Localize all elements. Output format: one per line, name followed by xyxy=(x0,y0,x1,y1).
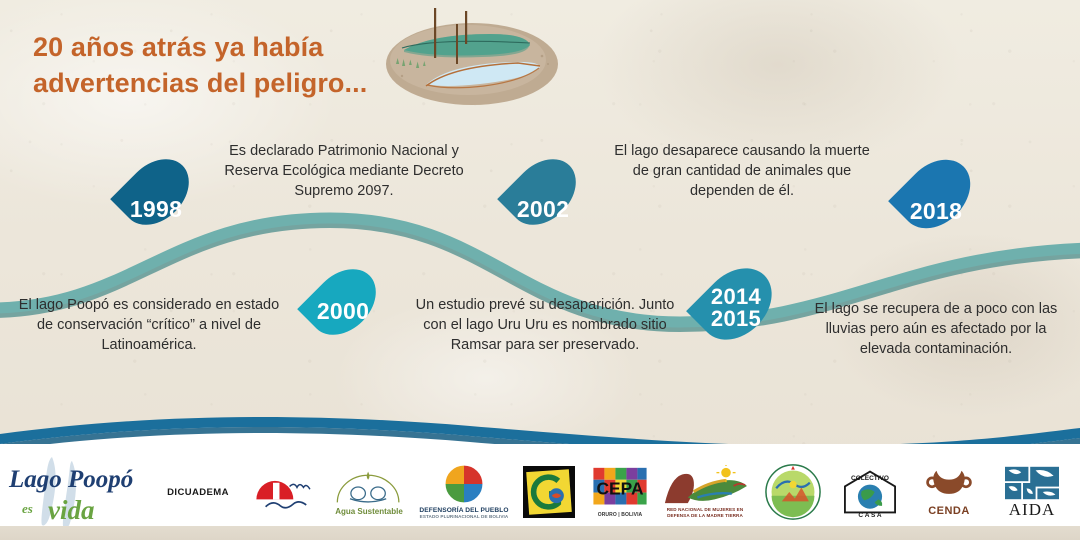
logo-agua-sustentable-label: Agua Sustentable xyxy=(335,507,403,516)
logo-cepa-svg: CEPA xyxy=(591,466,649,510)
logo-aida-label: AIDA xyxy=(1009,500,1056,520)
drop-year-2000: 2000 xyxy=(305,300,381,323)
logo-dicuadema[interactable]: DICUADEMA xyxy=(150,457,246,527)
logo-cuenca[interactable] xyxy=(514,457,584,527)
drop-year-2018: 2018 xyxy=(896,200,976,223)
page-title-line-1: 20 años atrás ya había xyxy=(33,32,323,62)
caption-2000: El lago Poopó es considerado en estado d… xyxy=(18,296,280,356)
drop-shape-2002 xyxy=(497,146,589,238)
caption-1998: Es declarado Patrimonio Nacional y Reser… xyxy=(203,142,485,202)
brand-line-1: Lago Poopó xyxy=(8,466,133,493)
logo-dicuadema-label: DICUADEMA xyxy=(167,487,229,498)
drying-lake-illustration xyxy=(372,2,572,110)
logo-mujeres-pocho[interactable] xyxy=(246,457,324,527)
caption-2018: El lago se recupera de a poco con las ll… xyxy=(812,300,1060,360)
brand-mark-svg: Lago Poopó es vida xyxy=(0,453,150,531)
infographic-canvas: 20 años atrás ya había advertencias del … xyxy=(0,0,1080,540)
drop-shape-2018 xyxy=(888,146,984,242)
logo-red-nacional-svg xyxy=(659,465,751,507)
logo-colectivo-casa-svg: COLECTIVO C A S A xyxy=(841,466,899,518)
logo-cenda-svg xyxy=(924,467,974,503)
logo-coordinadora-svg xyxy=(765,464,821,520)
logo-cepa[interactable]: CEPA ORURO | BOLIVIA xyxy=(584,457,656,527)
logo-colectivo-casa[interactable]: COLECTIVO C A S A xyxy=(832,457,908,527)
drop-2000[interactable]: 2000 xyxy=(305,250,381,354)
logo-coordinadora-cuencas[interactable] xyxy=(754,457,832,527)
logo-cepa-wordmark: CEPA xyxy=(596,478,643,498)
logo-red-nacional-sub: DEFENSA DE LA MADRE TIERRA xyxy=(667,513,743,519)
drop-year-2015: 2015 xyxy=(694,308,778,330)
brand-line-2-big: vida xyxy=(48,495,95,525)
logo-cepa-sub: ORURO | BOLIVIA xyxy=(598,512,643,518)
logo-agua-sustentable-svg xyxy=(328,468,410,506)
logo-cenda-label: CENDA xyxy=(928,505,970,517)
drop-1998[interactable]: 1998 xyxy=(118,140,194,244)
drop-shape-1998 xyxy=(110,146,202,238)
logo-defensoria-label: DEFENSORÍA DEL PUEBLO xyxy=(419,507,508,514)
drop-year-1998: 1998 xyxy=(118,198,194,221)
drop-2018[interactable]: 2018 xyxy=(896,140,976,248)
logo-cuenca-svg xyxy=(523,466,575,518)
caption-2014-2015: El lago desaparece causando la muerte de… xyxy=(614,142,870,202)
logo-mujeres-pocho-svg xyxy=(249,466,321,518)
drop-year-2002: 2002 xyxy=(505,198,581,221)
drop-2002[interactable]: 2002 xyxy=(505,140,581,244)
logo-agua-sustentable[interactable]: Agua Sustentable xyxy=(324,457,414,527)
drop-2014-2015[interactable]: 2014 2015 xyxy=(694,248,778,360)
logo-cenda[interactable]: CENDA xyxy=(908,457,990,527)
logo-defensoria-svg xyxy=(444,464,484,504)
brand-line-2-small: es xyxy=(22,501,33,516)
caption-2002: Un estudio prevé su desaparición. Junto … xyxy=(404,296,686,356)
logo-defensoria-del-pueblo[interactable]: DEFENSORÍA DEL PUEBLO ESTADO PLURINACION… xyxy=(414,457,514,527)
logo-lago-poopo-es-vida[interactable]: Lago Poopó es vida xyxy=(0,453,150,531)
logo-defensoria-sub: ESTADO PLURINACIONAL DE BOLIVIA xyxy=(420,514,509,520)
footer-bottom-strip xyxy=(0,526,1080,540)
logo-casa-word: C A S A xyxy=(858,512,881,518)
logo-red-nacional-mujeres[interactable]: RED NACIONAL DE MUJERES EN DEFENSA DE LA… xyxy=(656,457,754,527)
logo-aida[interactable]: AIDA xyxy=(990,457,1074,527)
logo-colectivo-word: COLECTIVO xyxy=(851,475,889,482)
logo-aida-svg xyxy=(1003,465,1061,501)
